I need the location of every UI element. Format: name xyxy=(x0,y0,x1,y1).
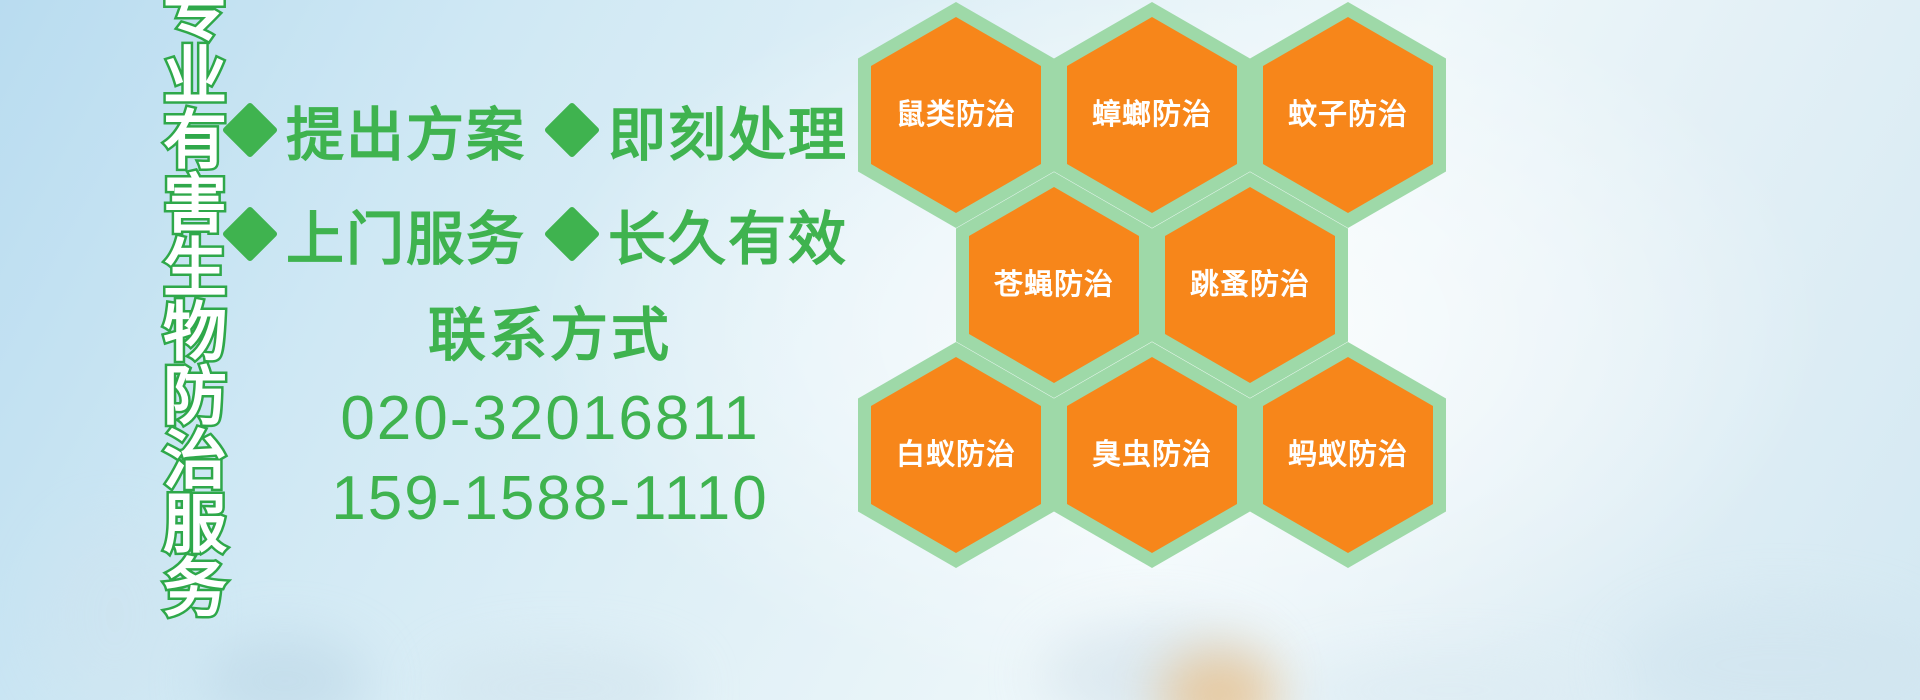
feature-item: 提出方案 xyxy=(230,88,526,172)
hex-label: 苍蝇防治 xyxy=(994,271,1114,300)
feature-item: 上门服务 xyxy=(230,192,526,276)
hex-inner: 鼠类防治 xyxy=(871,17,1041,213)
background-blur-blob xyxy=(200,636,370,700)
diamond-icon xyxy=(544,206,601,263)
service-honeycomb: 鼠类防治 蟑螂防治 蚊子防治 苍蝇防治 跳蚤防治 白蚁防治 xyxy=(848,0,1468,700)
hex-inner: 蚊子防治 xyxy=(1263,17,1433,213)
hex-label: 白蚁防治 xyxy=(896,441,1016,470)
hex-label: 鼠类防治 xyxy=(896,101,1016,130)
feature-label: 上门服务 xyxy=(286,192,526,276)
feature-row: 上门服务 长久有效 xyxy=(230,182,870,286)
feature-list: 提出方案 即刻处理 上门服务 长久有效 xyxy=(230,78,870,286)
hex-inner: 蚂蚁防治 xyxy=(1263,357,1433,553)
contact-block: 联系方式 020-32016811 159-1588-1110 xyxy=(230,300,870,540)
hex-label: 跳蚤防治 xyxy=(1190,271,1310,300)
phone-number-landline[interactable]: 020-32016811 xyxy=(230,379,870,460)
diamond-icon xyxy=(222,206,279,263)
hex-inner: 蟑螂防治 xyxy=(1067,17,1237,213)
phone-number-mobile[interactable]: 159-1588-1110 xyxy=(230,459,870,540)
hex-inner: 苍蝇防治 xyxy=(969,187,1139,383)
hex-inner: 跳蚤防治 xyxy=(1165,187,1335,383)
hex-inner: 臭虫防治 xyxy=(1067,357,1237,553)
feature-label: 长久有效 xyxy=(608,192,848,276)
background-blur-blob xyxy=(1620,600,1920,700)
feature-label: 提出方案 xyxy=(286,88,526,172)
hex-label: 臭虫防治 xyxy=(1092,441,1212,470)
hex-inner: 白蚁防治 xyxy=(871,357,1041,553)
pest-control-banner: 专业有害生物防治服务 提出方案 即刻处理 上门服务 长久有效 xyxy=(0,0,1920,700)
vertical-headline: 专业有害生物防治服务 xyxy=(104,18,222,578)
contact-title: 联系方式 xyxy=(230,300,870,373)
feature-row: 提出方案 即刻处理 xyxy=(230,78,870,182)
background-blur-blob xyxy=(430,648,690,700)
feature-label: 即刻处理 xyxy=(608,88,848,172)
hex-label: 蚂蚁防治 xyxy=(1288,441,1408,470)
diamond-icon xyxy=(222,102,279,159)
feature-item: 即刻处理 xyxy=(552,88,848,172)
feature-item: 长久有效 xyxy=(552,192,848,276)
hex-label: 蚊子防治 xyxy=(1288,101,1408,130)
diamond-icon xyxy=(544,102,601,159)
hex-label: 蟑螂防治 xyxy=(1092,101,1212,130)
